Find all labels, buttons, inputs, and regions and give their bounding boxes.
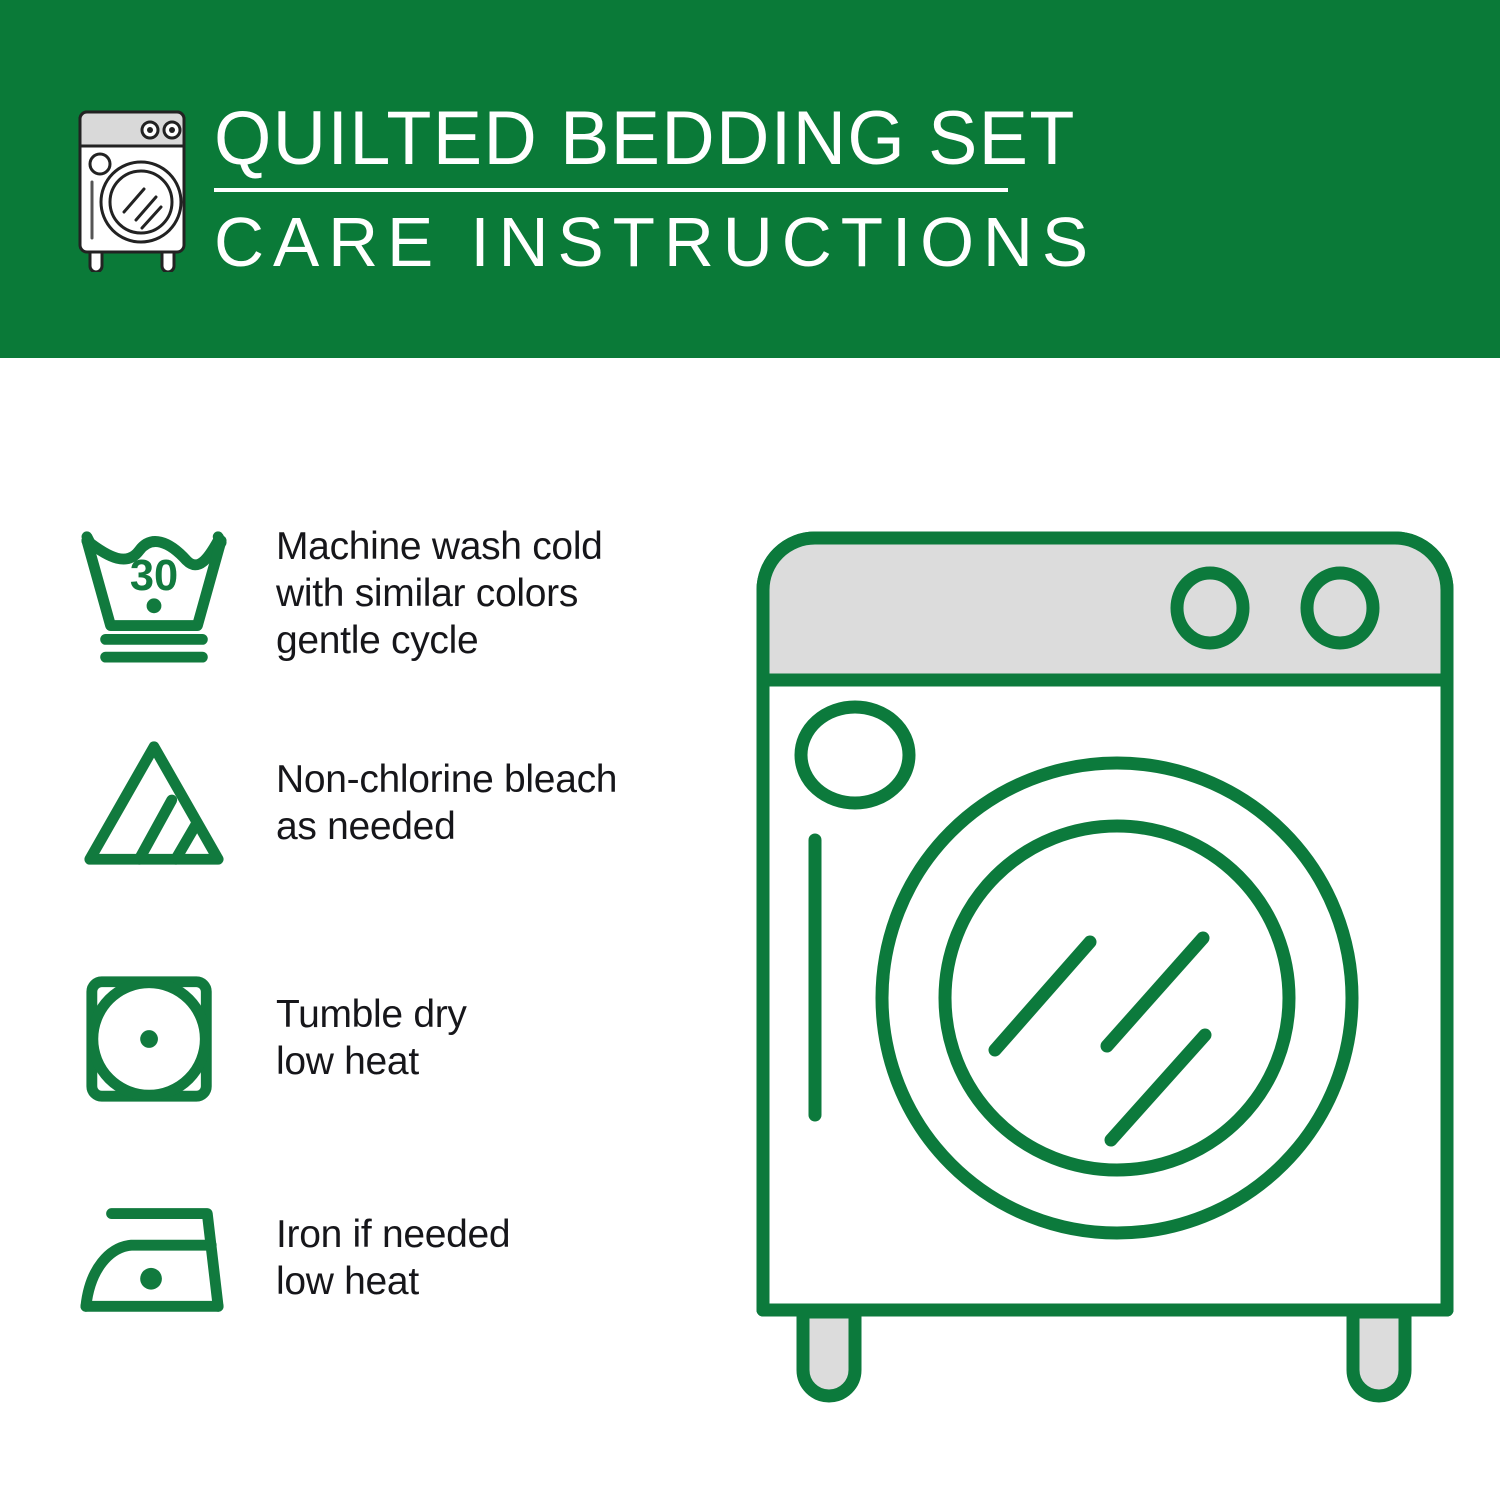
care-line-2: low heat — [276, 1258, 720, 1305]
washing-machine-illustration — [745, 490, 1465, 1440]
care-line-2: low heat — [276, 1038, 720, 1085]
care-line-2: as needed — [276, 803, 720, 850]
care-line-1: Machine wash cold — [276, 523, 720, 570]
door-inner-ring — [945, 826, 1289, 1170]
care-instructions-page: QUILTED BEDDING SET CARE INSTRUCTIONS — [0, 0, 1500, 1500]
care-instruction-list: 30 Machine wash cold with similar colors… — [0, 358, 740, 1500]
care-line-1: Iron if needed — [276, 1211, 720, 1258]
care-text-tumble-dry: Tumble dry low heat — [240, 991, 720, 1085]
foot-right — [1353, 1312, 1405, 1396]
knob-right — [1307, 573, 1373, 643]
iron-icon — [70, 1184, 240, 1332]
tumble-dry-icon — [70, 964, 240, 1112]
page-title: QUILTED BEDDING SET — [214, 96, 1000, 182]
care-text-iron: Iron if needed low heat — [240, 1211, 720, 1305]
care-row-bleach: Non-chlorine bleach as needed — [70, 728, 720, 878]
care-line-2: with similar colors — [276, 570, 720, 617]
care-row-machine-wash: 30 Machine wash cold with similar colors… — [70, 513, 720, 673]
care-line-1: Tumble dry — [276, 991, 720, 1038]
page-subtitle: CARE INSTRUCTIONS — [214, 202, 1016, 282]
wash-temperature-label: 30 — [130, 552, 178, 600]
header-title-block: QUILTED BEDDING SET CARE INSTRUCTIONS — [214, 96, 1024, 282]
washing-machine-icon — [62, 104, 202, 272]
care-text-machine-wash: Machine wash cold with similar colors ge… — [240, 523, 720, 664]
wash-tub-icon: 30 — [70, 519, 240, 667]
bleach-triangle-icon — [70, 729, 240, 877]
detergent-dispenser — [801, 707, 909, 803]
care-line-1: Non-chlorine bleach — [276, 756, 720, 803]
header-banner: QUILTED BEDDING SET CARE INSTRUCTIONS — [0, 0, 1500, 358]
care-text-bleach: Non-chlorine bleach as needed — [240, 756, 720, 850]
title-divider — [214, 188, 1008, 192]
care-row-tumble-dry: Tumble dry low heat — [70, 963, 720, 1113]
care-line-3: gentle cycle — [276, 617, 720, 664]
foot-left — [803, 1312, 855, 1396]
knob-left — [1177, 573, 1243, 643]
care-row-iron: Iron if needed low heat — [70, 1188, 720, 1328]
